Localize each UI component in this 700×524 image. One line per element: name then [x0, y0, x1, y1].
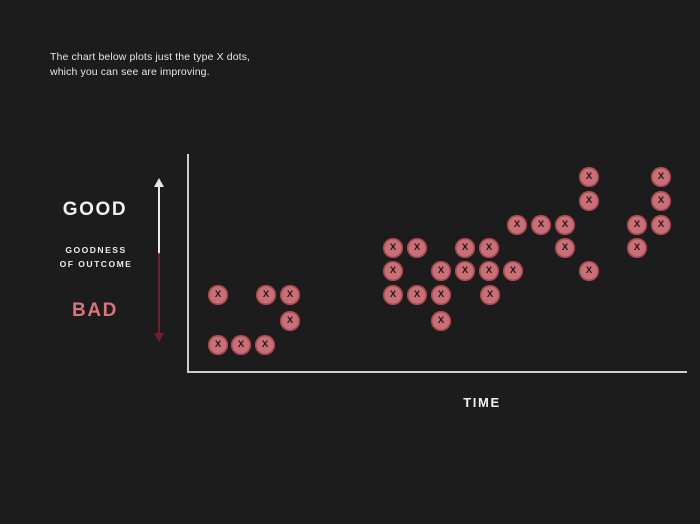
data-point-x: X — [431, 311, 451, 331]
data-point-x: X — [431, 285, 451, 305]
data-point-x: X — [627, 215, 647, 235]
data-point-x: X — [407, 285, 427, 305]
data-point-x: X — [383, 261, 403, 281]
data-point-x: X — [531, 215, 551, 235]
data-point-x: X — [651, 215, 671, 235]
data-point-x: X — [431, 261, 451, 281]
data-point-x: X — [507, 215, 527, 235]
data-point-x: X — [383, 238, 403, 258]
data-point-x: X — [455, 238, 475, 258]
data-point-x: X — [208, 335, 228, 355]
chart-canvas: The chart below plots just the type X do… — [0, 0, 700, 524]
data-point-x: X — [579, 167, 599, 187]
goodness-scale-arrow — [152, 178, 166, 342]
axis-label-good: GOOD — [40, 199, 150, 221]
axis-label-time: TIME — [422, 395, 542, 410]
data-point-x: X — [479, 238, 499, 258]
axis-label-bad: BAD — [40, 300, 150, 322]
axis-label-goodness: GOODNESS OF OUTCOME — [40, 243, 152, 271]
data-point-x: X — [503, 261, 523, 281]
data-point-x: X — [651, 191, 671, 211]
data-point-x: X — [627, 238, 647, 258]
data-point-x: X — [407, 238, 427, 258]
data-point-x: X — [280, 311, 300, 331]
data-point-x: X — [383, 285, 403, 305]
data-point-x: X — [579, 191, 599, 211]
data-point-x: X — [231, 335, 251, 355]
data-point-x: X — [651, 167, 671, 187]
data-point-x: X — [555, 238, 575, 258]
data-point-x: X — [579, 261, 599, 281]
data-point-x: X — [280, 285, 300, 305]
data-point-x: X — [480, 285, 500, 305]
caption-text: The chart below plots just the type X do… — [50, 50, 380, 79]
y-axis-line — [187, 154, 189, 373]
data-point-x: X — [208, 285, 228, 305]
x-axis-line — [187, 371, 687, 373]
data-point-x: X — [479, 261, 499, 281]
data-point-x: X — [455, 261, 475, 281]
data-point-x: X — [255, 335, 275, 355]
data-point-x: X — [555, 215, 575, 235]
data-point-x: X — [256, 285, 276, 305]
